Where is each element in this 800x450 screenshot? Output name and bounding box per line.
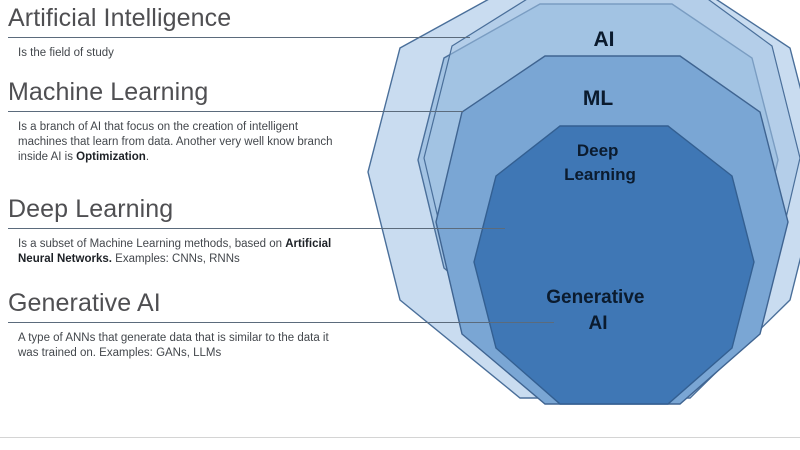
- polygon-label-deep-learning-line2: Learning: [564, 165, 636, 184]
- polygon-label-generative-ai-line1: Generative: [546, 287, 644, 308]
- bottom-divider: [0, 437, 800, 438]
- polygon-label-ml: ML: [583, 87, 613, 110]
- nested-sets-diagram: AI ML Deep Learning Generative AI: [0, 0, 800, 450]
- polygon-label-ai: AI: [594, 28, 615, 51]
- polygon-label-deep-learning-line1: Deep: [577, 141, 619, 160]
- polygon-label-generative-ai-line2: AI: [589, 313, 608, 334]
- slide-canvas: AI ML Deep Learning Generative AI Artifi…: [0, 0, 800, 450]
